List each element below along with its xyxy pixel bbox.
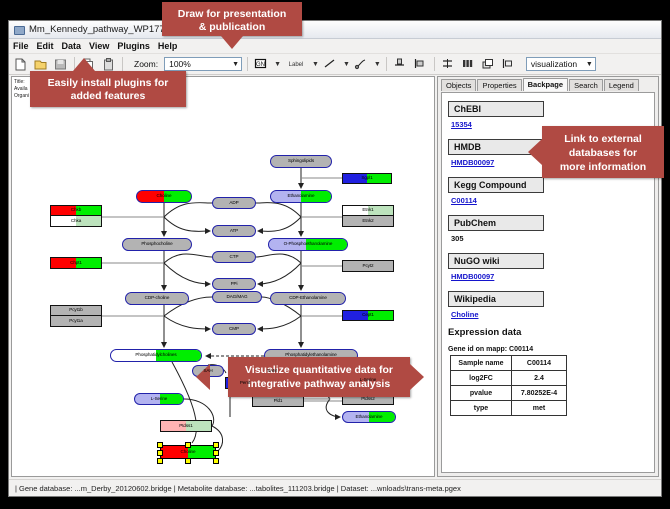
metabolite-node[interactable]: CMP <box>212 323 256 335</box>
metabolite-node[interactable]: ATP <box>212 225 256 237</box>
node-label: Sgpl1 <box>361 176 372 181</box>
node-label: L-Serine <box>151 397 168 402</box>
selection-handle[interactable] <box>213 442 219 448</box>
callout-visualize: Visualize quantitative data forintegrati… <box>228 357 410 397</box>
node-label: Phosphocholine <box>141 242 172 247</box>
metabolite-node[interactable]: CDP-Ethanolamine <box>270 292 346 305</box>
paste-icon[interactable] <box>100 56 117 73</box>
align-icon[interactable] <box>392 56 409 73</box>
callout-links: Link to externaldatabases formore inform… <box>542 126 664 178</box>
line-icon[interactable] <box>322 56 339 73</box>
metabolite-node[interactable]: O-Phosphoethanolamine <box>268 238 348 251</box>
cell-key: type <box>451 401 512 416</box>
new-icon[interactable] <box>12 56 29 73</box>
tab-search[interactable]: Search <box>569 79 603 91</box>
chevron-down-icon: ▼ <box>586 61 593 68</box>
gene-node[interactable]: Etnk2 <box>342 216 394 227</box>
metabolite-node[interactable]: PPi <box>212 278 256 290</box>
callout-plugins-arrow-icon <box>73 58 95 71</box>
datanode-dropdown-icon[interactable]: ▼ <box>274 61 281 68</box>
label-dropdown-icon[interactable]: ▼ <box>312 61 319 68</box>
side-panel-tabs: Objects Properties Backpage Search Legen… <box>438 77 658 91</box>
callout-draw-text: Draw for presentation& publication <box>178 8 287 33</box>
title-bar: Mm_Kennedy_pathway_WP1771_45176.gpml <box>9 21 661 39</box>
interaction-icon[interactable] <box>353 56 370 73</box>
toolbar-separator <box>434 57 435 71</box>
node-label: Ethanolamine <box>288 194 315 199</box>
callout-draw-arrow-icon <box>221 36 243 49</box>
pathway-canvas[interactable]: Title: Availa Organi <box>11 76 435 477</box>
db-value-pubchem: 305 <box>451 234 644 243</box>
cell-key: log2FC <box>451 371 512 386</box>
node-label: L-Serine <box>360 378 377 383</box>
cell-key: Sample name <box>451 356 512 371</box>
expression-table: Sample name C00114 log2FC 2.4 pvalue 7.8… <box>450 355 567 416</box>
node-label: ATP <box>230 229 238 234</box>
node-label: Phosphatidylcholines <box>135 353 176 358</box>
line-dropdown-icon[interactable]: ▼ <box>343 61 350 68</box>
gene-node[interactable]: Chkb <box>50 205 102 216</box>
menu-item-view[interactable]: View <box>89 41 109 51</box>
metabolite-node[interactable]: Sphingolipids <box>270 155 332 168</box>
node-label: Chka <box>71 219 81 224</box>
gene-node[interactable]: Sgpl1 <box>342 173 392 184</box>
status-text: | Gene database: ...m_Derby_20120602.bri… <box>9 484 461 493</box>
screenshot-root: Mm_Kennedy_pathway_WP1771_45176.gpml Fil… <box>0 0 670 509</box>
menu-item-edit[interactable]: Edit <box>37 41 54 51</box>
datanode-icon[interactable]: GN <box>253 56 270 73</box>
cell-value: met <box>512 401 567 416</box>
interaction-dropdown-icon[interactable]: ▼ <box>374 61 381 68</box>
metabolite-node[interactable]: ADP <box>212 197 256 209</box>
chevron-down-icon: ▼ <box>232 61 239 68</box>
node-label: Choline <box>157 194 172 199</box>
node-label: SAM <box>267 369 277 374</box>
table-row: Sample name C00114 <box>451 356 567 371</box>
node-label: Chkb <box>71 208 81 213</box>
cell-value: 7.80252E-4 <box>512 386 567 401</box>
zoom-label: Zoom: <box>134 59 158 69</box>
callout-plugins-text: Easily install plugins foradded features <box>48 77 169 102</box>
stack-icon[interactable] <box>440 56 457 73</box>
node-label: Pcyt1a <box>69 319 82 324</box>
tab-properties[interactable]: Properties <box>477 79 521 91</box>
metabolite-node[interactable]: Phosphocholine <box>122 238 192 251</box>
visualization-value: visualization <box>531 59 577 69</box>
tab-legend[interactable]: Legend <box>604 79 639 91</box>
node-label: Cept1 <box>362 313 374 318</box>
node-label: Ptdss1 <box>179 424 192 429</box>
menu-item-file[interactable]: File <box>13 41 29 51</box>
app-icon <box>13 24 24 35</box>
node-label: Etnk1 <box>362 208 373 213</box>
node-label: Choline <box>181 450 196 455</box>
cell-value: 2.4 <box>512 371 567 386</box>
gene-node[interactable]: Ptdss1 <box>160 420 212 432</box>
gene-id-label: Gene id on mapp: C00114 <box>448 346 644 353</box>
node-label: Phosphatidylethanolamine <box>285 353 337 358</box>
gene-node[interactable]: Pcyt2 <box>342 260 394 272</box>
node-label: Ptdss2 <box>361 397 374 402</box>
expression-data-heading: Expression data <box>448 327 644 338</box>
node-label: PPi <box>231 282 238 287</box>
table-row: pvalue 7.80252E-4 <box>451 386 567 401</box>
gene-node[interactable]: Chka <box>50 216 102 227</box>
metabolite-node[interactable]: Ethanolamine <box>270 190 332 203</box>
selection-handle[interactable] <box>157 450 163 456</box>
node-label: Chpt1 <box>70 261 82 266</box>
cell-value: C00114 <box>512 356 567 371</box>
gene-node[interactable]: Cept1 <box>342 310 394 321</box>
callout-links-arrow-icon <box>528 139 542 165</box>
metabolite-node[interactable]: CDP-choline <box>125 292 189 305</box>
db-link-nugowiki[interactable]: HMDB00097 <box>451 272 644 281</box>
visualization-select[interactable]: visualization ▼ <box>526 57 596 71</box>
node-label: Ethanolamine <box>356 415 383 420</box>
node-label: Pemt <box>240 381 250 386</box>
menu-item-data[interactable]: Data <box>62 41 82 51</box>
node-label: Etnk2 <box>362 219 373 224</box>
table-row: log2FC 2.4 <box>451 371 567 386</box>
db-link-wikipedia[interactable]: Choline <box>451 310 644 319</box>
gene-node[interactable]: Etnk1 <box>342 205 394 216</box>
node-label: CMP <box>229 327 239 332</box>
db-header-nugowiki: NuGO wiki <box>448 253 544 269</box>
callout-plugins: Easily install plugins foradded features <box>30 71 186 107</box>
callout-visualize-arrow-right-icon <box>410 364 424 390</box>
align-left-icon[interactable] <box>412 56 429 73</box>
callout-links-text: Link to externaldatabases formore inform… <box>560 133 646 173</box>
db-header-pubchem: PubChem <box>448 215 544 231</box>
zoom-value: 100% <box>169 59 191 69</box>
db-header-chebi: ChEBI <box>448 101 544 117</box>
node-label: CTP <box>230 255 239 260</box>
table-row: type met <box>451 401 567 416</box>
selection-handle[interactable] <box>213 450 219 456</box>
tab-backpage[interactable]: Backpage <box>523 78 568 91</box>
gene-node[interactable]: Pcyt1a <box>50 316 102 327</box>
toolbar-separator <box>122 57 123 71</box>
label-icon[interactable]: Label <box>284 56 308 73</box>
node-label: O-Phosphoethanolamine <box>284 242 333 247</box>
selection-handle[interactable] <box>185 442 191 448</box>
node-label: ADP <box>229 201 238 206</box>
selection-handle[interactable] <box>157 458 163 464</box>
cell-key: pvalue <box>451 386 512 401</box>
metabolite-node[interactable]: L-Serine <box>134 393 184 405</box>
node-label: SAH <box>203 369 212 374</box>
metabolite-node[interactable]: DAG/MAG <box>212 291 262 303</box>
toolbar-separator <box>386 57 387 71</box>
order-front-icon[interactable] <box>480 56 497 73</box>
menu-item-help[interactable]: Help <box>158 41 178 51</box>
status-bar: | Gene database: ...m_Derby_20120602.bri… <box>9 479 661 496</box>
selection-handle[interactable] <box>185 458 191 464</box>
gene-node[interactable]: Chpt1 <box>50 257 102 269</box>
node-label: Sphingolipids <box>288 159 314 164</box>
menu-item-plugins[interactable]: Plugins <box>117 41 150 51</box>
selection-handle[interactable] <box>157 442 163 448</box>
selection-handle[interactable] <box>213 458 219 464</box>
metabolite-node[interactable]: Ethanolamine <box>342 411 396 423</box>
node-label: CDP-choline <box>145 296 170 301</box>
toolbar-separator <box>247 57 248 71</box>
db-link-kegg[interactable]: C00114 <box>451 196 644 205</box>
node-label: Pld1 <box>274 399 283 404</box>
svg-text:Label: Label <box>289 62 304 68</box>
node-label: DAG/MAG <box>227 295 248 300</box>
node-label: Pcyt2 <box>363 264 374 269</box>
tab-objects[interactable]: Objects <box>441 79 476 91</box>
callout-draw: Draw for presentation& publication <box>162 2 302 36</box>
open-icon[interactable] <box>32 56 49 73</box>
db-header-wikipedia: Wikipedia <box>448 291 544 307</box>
order-back-icon[interactable] <box>500 56 517 73</box>
db-header-kegg: Kegg Compound <box>448 177 544 193</box>
distribute-icon[interactable] <box>460 56 477 73</box>
svg-text:GN: GN <box>256 62 265 68</box>
metabolite-node[interactable]: CTP <box>212 251 256 263</box>
node-label: Pcyt1b <box>69 308 82 313</box>
save-icon[interactable] <box>52 56 69 73</box>
menu-bar: File Edit Data View Plugins Help <box>9 39 661 54</box>
zoom-select[interactable]: 100% ▼ <box>164 57 242 71</box>
gene-node[interactable]: Pcyt1b <box>50 305 102 316</box>
metabolite-node[interactable]: Choline <box>136 190 192 203</box>
metabolite-node[interactable]: Phosphatidylcholines <box>110 349 202 362</box>
node-label: CDP-Ethanolamine <box>289 296 327 301</box>
